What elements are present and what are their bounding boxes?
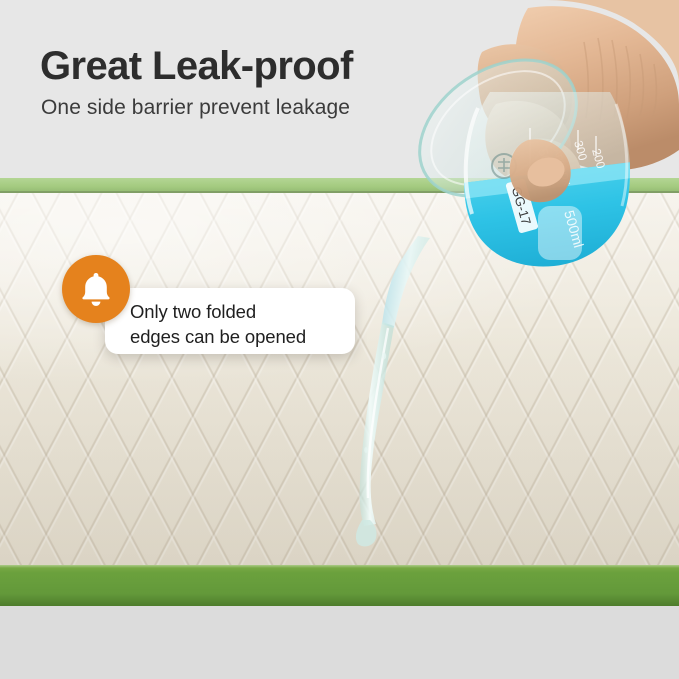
page-title: Great Leak-proof	[40, 44, 353, 89]
liquid-pour	[400, 190, 458, 238]
mat-bottom-green-edge	[0, 565, 679, 606]
callout-line-1: Only two folded	[130, 301, 256, 322]
callout-text: Only two folded edges can be opened	[130, 299, 355, 349]
product-promo-image: Great Leak-proof One side barrier preven…	[0, 0, 679, 679]
water-droplet	[364, 447, 368, 453]
callout: Only two folded edges can be opened	[62, 255, 357, 355]
stream-main	[360, 322, 394, 526]
hand-pouring-beaker: 500 APPROX 300 200 500ml GG-17	[378, 0, 679, 330]
water-droplet	[382, 353, 386, 360]
callout-badge	[62, 255, 130, 323]
footer-band	[0, 606, 679, 679]
page-subtitle: One side barrier prevent leakage	[41, 96, 350, 120]
bell-icon	[78, 270, 114, 308]
beaker-frosted-patch	[538, 206, 582, 260]
callout-line-2: edges can be opened	[130, 326, 306, 347]
